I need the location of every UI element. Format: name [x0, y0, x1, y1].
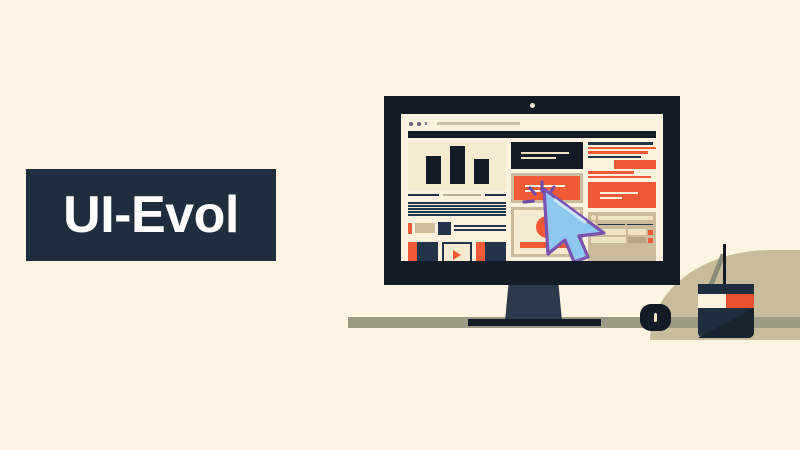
card-accent-bar: [408, 242, 417, 261]
text-line: [408, 208, 506, 210]
card-line: [521, 152, 569, 154]
cup-band: [698, 294, 754, 308]
cup-rim: [698, 284, 754, 294]
text-line: [408, 202, 506, 204]
pen-icon: [723, 244, 726, 286]
status-badge: [648, 238, 653, 243]
cup-band-right: [726, 294, 754, 308]
swatch-row: [408, 222, 506, 235]
site-nav-bar[interactable]: [408, 131, 656, 138]
browser-chrome: [406, 119, 658, 128]
list-item[interactable]: [591, 215, 653, 220]
monitor-stand-neck: [505, 285, 562, 321]
card-body: [417, 242, 438, 261]
stripe-highlight-block: [614, 160, 656, 169]
text-line: [408, 205, 506, 207]
orange-chip: [408, 223, 412, 234]
cup-body: [698, 308, 754, 338]
split-card[interactable]: [476, 242, 506, 261]
list-item[interactable]: [591, 229, 653, 235]
click-sparkle-icon: [516, 178, 566, 218]
split-card[interactable]: [408, 242, 438, 261]
heading-line-row: [408, 194, 506, 196]
video-card[interactable]: [442, 242, 472, 261]
stripe-list: [588, 142, 656, 178]
chart-bar: [450, 146, 465, 184]
media-caption-bar: [520, 242, 574, 248]
webcam-icon: [530, 103, 535, 108]
dark-headline-card[interactable]: [511, 142, 583, 169]
list-item-chip: [591, 229, 626, 235]
list-item-label: [598, 216, 653, 220]
stripe-line: [588, 147, 656, 150]
illustration-canvas: UI-Evol: [0, 0, 800, 450]
swatch-lines: [454, 225, 506, 231]
content-column-right: [588, 142, 656, 261]
list-item[interactable]: [591, 222, 653, 227]
list-item-chip: [628, 229, 646, 235]
list-item-label: [627, 224, 653, 226]
window-dot-icon[interactable]: [409, 122, 413, 126]
stripe-line: [588, 171, 634, 174]
text-line: [408, 214, 506, 216]
list-item-chip: [591, 237, 626, 243]
list-panel: [588, 212, 656, 261]
card-accent-bar: [476, 242, 485, 261]
chart-bar: [474, 159, 489, 184]
title-badge: UI-Evol: [26, 169, 276, 261]
avatar-icon: [591, 215, 596, 220]
stripe-line: [588, 156, 641, 159]
page-title: UI-Evol: [63, 189, 239, 241]
card-row: [408, 242, 506, 261]
card-line: [521, 157, 556, 159]
stripe-line: [588, 142, 653, 145]
banner-line: [600, 192, 638, 194]
orange-banner[interactable]: [588, 182, 656, 208]
bar-chart: [408, 142, 506, 190]
list-item-chip: [628, 237, 646, 243]
stripe-line: [588, 151, 647, 154]
paragraph-block: [408, 202, 506, 216]
list-item[interactable]: [591, 237, 653, 243]
heading-line: [408, 194, 439, 196]
window-tick-icon: [425, 122, 427, 125]
tan-chip: [415, 223, 435, 233]
text-line: [454, 229, 506, 231]
window-dot-icon[interactable]: [417, 122, 421, 126]
cup-shadow: [698, 308, 754, 338]
play-icon[interactable]: [453, 250, 461, 260]
navy-square: [438, 222, 451, 235]
circle-shape-icon: [536, 216, 558, 238]
content-column-left: [408, 142, 506, 261]
heading-line: [443, 194, 481, 196]
computer-mouse: [640, 304, 671, 331]
pencil-cup: [698, 244, 754, 325]
mouse-wheel: [654, 313, 657, 322]
cup-band-left: [698, 294, 726, 308]
stripe-line: [588, 176, 650, 179]
monitor-stand-base: [468, 319, 601, 326]
text-line: [408, 211, 506, 213]
list-item-label: [598, 224, 624, 226]
heading-line: [485, 194, 506, 196]
address-bar[interactable]: [437, 122, 520, 125]
status-badge: [648, 230, 653, 235]
card-body: [485, 242, 506, 261]
chart-bar: [426, 156, 441, 184]
banner-line: [600, 197, 622, 199]
avatar-icon: [591, 222, 596, 227]
text-line: [454, 225, 506, 227]
